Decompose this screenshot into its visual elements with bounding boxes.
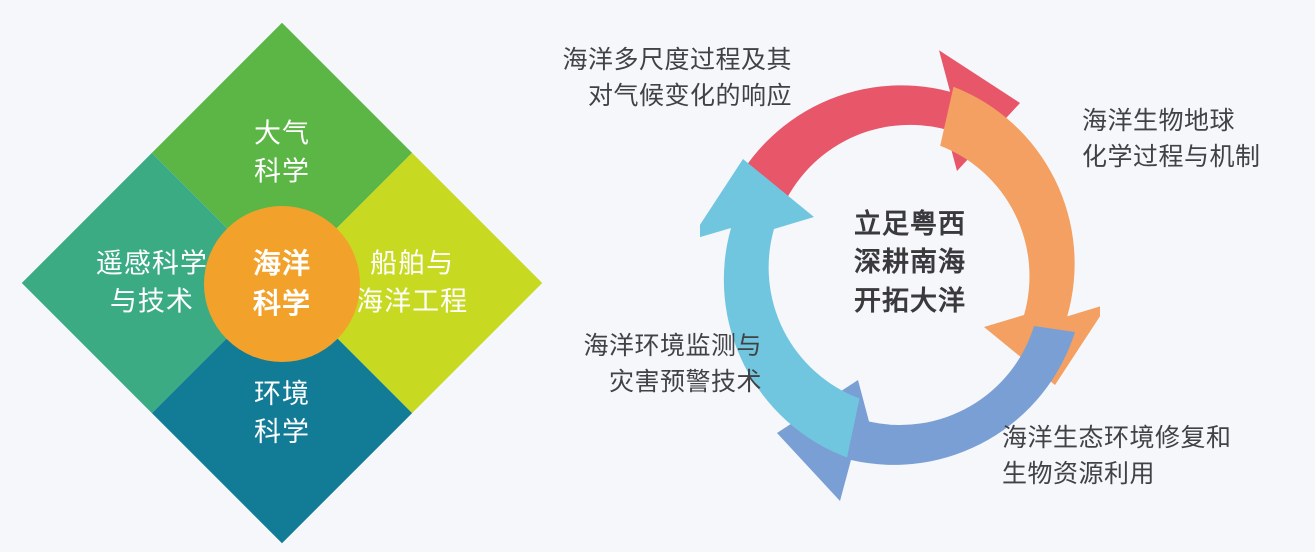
cycle-center-label: 立足粤西 深耕南海 开拓大洋 [820,205,1000,320]
cycle-caption-top: 海洋多尺度过程及其 对气候变化的响应 [452,42,792,115]
diamond-center-label: 海洋 科学 [253,244,311,324]
diamond-quadrant-bottom-label: 环境 科学 [254,375,310,452]
cycle-caption-bottom: 海洋生态环境修复和 生物资源利用 [1002,420,1312,493]
cycle-caption-left: 海洋环境监测与 灾害预警技术 [492,328,762,401]
diamond-quadrant-top-label: 大气 科学 [254,115,310,192]
diamond-quadrant-right-label: 船舶与 海洋工程 [356,245,468,322]
diamond-quadrant-left-label: 遥感科学 与技术 [96,245,208,322]
diamond-center-circle[interactable]: 海洋 科学 [204,206,360,362]
diagram-root: 大气 科学 船舶与 海洋工程 遥感科学 与技术 环境 科学 海洋 科学 [0,0,1315,552]
cycle-caption-right: 海洋生物地球 化学过程与机制 [1082,103,1315,176]
